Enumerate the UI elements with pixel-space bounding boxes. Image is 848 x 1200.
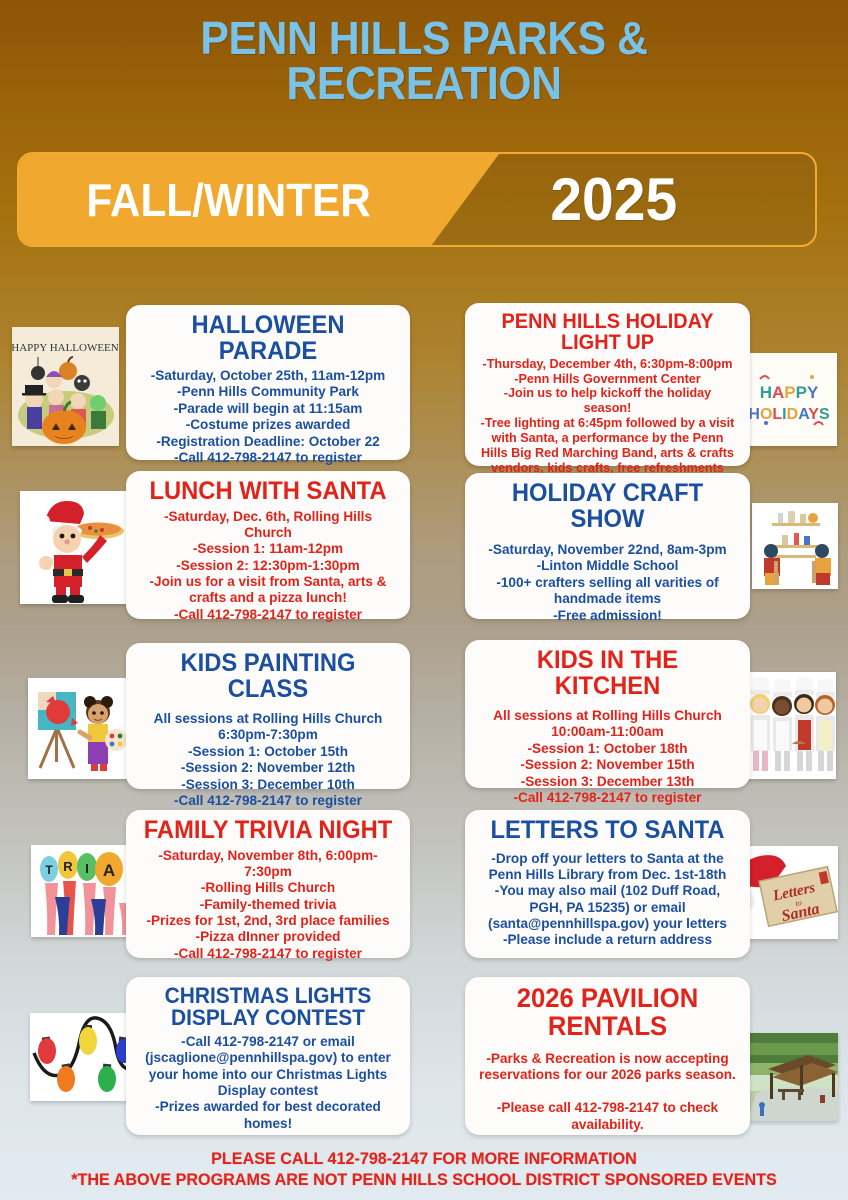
event-title: PENN HILLS HOLIDAY LIGHT UP [482,311,734,354]
event-card-2026-pavilion-rentals[interactable]: 2026 PAVILION RENTALS -Parks & Recreatio… [465,977,750,1135]
event-card-letters-to-santa[interactable]: LETTERS TO SANTA -Drop off your letters … [465,810,750,958]
event-card-holiday-craft-show[interactable]: HOLIDAY CRAFT SHOW -Saturday, November 2… [465,473,750,619]
christmas-lights-image [30,1013,140,1101]
svg-text:I: I [85,861,89,876]
santa-pizza-image [20,491,130,604]
happy-halloween-image: HAPPY HALLOWEEN [12,327,119,446]
season-banner: FALL/WINTER 2025 [17,152,817,247]
event-title: FAMILY TRIVIA NIGHT [143,818,394,844]
event-body: -Saturday, October 25th, 11am-12pm -Penn… [140,367,396,465]
trivia-image: T R I A [31,845,135,937]
footer-note: PLEASE CALL 412-798-2147 FOR MORE INFORM… [21,1148,827,1191]
svg-text:HAPPY HALLOWEEN: HAPPY HALLOWEEN [12,342,119,354]
event-body: -Saturday, November 22nd, 8am-3pm -Linto… [479,541,736,623]
event-body: -Parks & Recreation is now accepting res… [479,1050,736,1132]
event-card-family-trivia-night[interactable]: FAMILY TRIVIA NIGHT -Saturday, November … [126,810,410,958]
svg-text:R: R [63,859,73,874]
event-body: All sessions at Rolling Hills Church 10:… [479,707,736,805]
event-title: LETTERS TO SANTA [482,818,734,844]
event-body: -Saturday, November 8th, 6:00pm-7:30pm -… [140,847,396,962]
flyer-poster: PENN HILLS PARKS & RECREATION FALL/WINTE… [0,0,848,1200]
year-label-wrap: 2025 [519,154,817,245]
event-title: 2026 PAVILION RENTALS [482,985,734,1040]
svg-text:HOLIDAYS: HOLIDAYS [748,406,830,423]
event-body: -Call 412-798-2147 or email (jscaglione@… [140,1033,396,1131]
season-label: FALL/WINTER [87,173,371,227]
event-title: KIDS IN THE KITCHEN [482,648,734,699]
pavilion-image [748,1033,838,1121]
craft-show-image [752,503,838,589]
poster-header: PENN HILLS PARKS & RECREATION [0,16,848,106]
event-card-christmas-lights-display-contest[interactable]: CHRISTMAS LIGHTS DISPLAY CONTEST -Call 4… [126,977,410,1135]
event-title: HOLIDAY CRAFT SHOW [482,481,734,532]
svg-text:HAPPY: HAPPY [760,383,819,402]
event-card-lunch-with-santa[interactable]: LUNCH WITH SANTA -Saturday, Dec. 6th, Ro… [126,471,410,619]
page-title: PENN HILLS PARKS & RECREATION [30,16,819,106]
event-card-holiday-light-up[interactable]: PENN HILLS HOLIDAY LIGHT UP -Thursday, D… [465,303,750,466]
event-card-halloween-parade[interactable]: HALLOWEEN PARADE -Saturday, October 25th… [126,305,410,460]
event-body: -Drop off your letters to Santa at the P… [479,850,736,948]
event-card-kids-in-the-kitchen[interactable]: KIDS IN THE KITCHEN All sessions at Roll… [465,640,750,788]
event-title: CHRISTMAS LIGHTS DISPLAY CONTEST [143,985,394,1030]
svg-text:T: T [45,863,53,877]
kids-painting-image [28,678,129,779]
event-title: KIDS PAINTING CLASS [143,651,394,702]
event-title: HALLOWEEN PARADE [143,313,394,364]
event-card-kids-painting-class[interactable]: KIDS PAINTING CLASS All sessions at Roll… [126,643,410,789]
season-label-wrap: FALL/WINTER [19,154,439,245]
svg-text:A: A [103,861,115,880]
event-body: -Saturday, Dec. 6th, Rolling Hills Churc… [140,508,396,623]
year-label: 2025 [550,165,677,234]
letters-to-santa-image: Letters to Santa [736,846,838,939]
happy-holidays-image: HAPPY HOLIDAYS [742,353,837,446]
event-title: LUNCH WITH SANTA [143,479,394,505]
event-body: All sessions at Rolling Hills Church 6:3… [140,710,396,808]
